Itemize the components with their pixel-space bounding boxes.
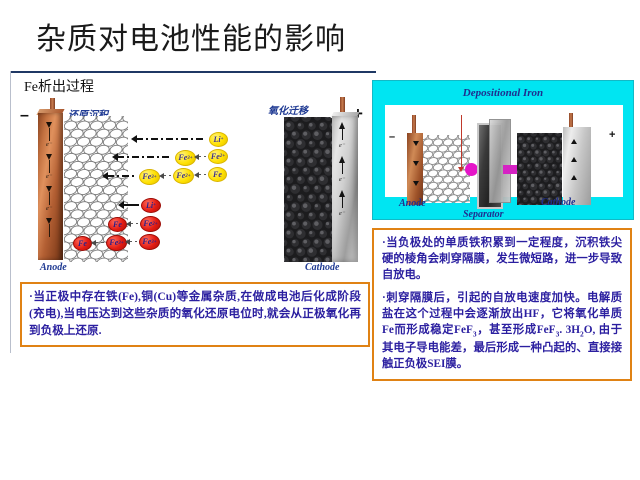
depositional-iron-panel: Depositional Iron – + xyxy=(372,80,634,220)
ion-fe-red-b: Fe xyxy=(73,236,92,251)
cyan-anode-arrow-1 xyxy=(413,141,419,146)
ion-fe3-yellow-a: Fe3+ xyxy=(175,150,196,166)
cyan-panel-stage: – + xyxy=(385,105,623,197)
cyan-cathode-arrow-1 xyxy=(571,139,577,144)
cyan-cathode-arrow-2 xyxy=(571,157,577,162)
anode-electron-3: e⁻ xyxy=(46,205,52,212)
anode-electron-2: e⁻ xyxy=(46,173,52,180)
diagram-title: Fe析出过程 xyxy=(24,76,94,96)
cyan-panel-title: Depositional Iron xyxy=(373,87,633,99)
cyan-polarity-minus: – xyxy=(389,131,395,143)
ion-fe-yellow: Fe xyxy=(208,167,227,182)
arrow-li-red xyxy=(123,204,139,206)
arrow-red-fe3-b xyxy=(129,241,137,242)
cathode-electron-2: e⁻ xyxy=(339,176,345,183)
anode-electron-1: e⁻ xyxy=(46,141,52,148)
arrow-fe3-migration-b xyxy=(107,175,135,177)
diagram-anode-label: Anode xyxy=(40,262,67,273)
anode-line-4 xyxy=(49,224,50,237)
arrow-red-fe2 xyxy=(130,223,138,224)
ion-fe3-red-a: Fe3+ xyxy=(106,235,127,251)
title-divider xyxy=(10,71,376,73)
cyan-pointer-line xyxy=(461,115,462,169)
ion-fe3-yellow-b: Fe3+ xyxy=(139,169,160,185)
cathode-collector-body xyxy=(332,116,358,262)
cathode-electron-1: e⁻ xyxy=(339,142,345,149)
diagram-cathode-label: Cathode xyxy=(305,262,339,273)
ion-fe3-red-b: Fe3+ xyxy=(139,234,160,250)
callout-right: ·当负极处的单质铁积累到一定程度，沉积铁尖硬的棱角会刺穿隔膜，发生微短路，进一步… xyxy=(372,228,632,381)
cyan-cathode-arrow-3 xyxy=(571,175,577,180)
arrow-fe2-to-fe3-a xyxy=(198,156,206,157)
cyan-anode-arrow-2 xyxy=(413,161,419,166)
cyan-separator-label: Separator xyxy=(463,209,504,220)
label-oxidation-migration: 氧化迁移 xyxy=(268,102,308,117)
cyan-cathode xyxy=(563,127,591,205)
cyan-pointer-arrowhead xyxy=(458,167,464,172)
ion-fe-red: Fe xyxy=(108,217,127,232)
ion-fe2-yellow-b: Fe2+ xyxy=(173,168,194,184)
ion-fe2-red-a: Fe2+ xyxy=(140,216,161,232)
callout-left: ·当正极中存在铁(Fe),铜(Cu)等金属杂质,在做成电池后化成阶段(充电),当… xyxy=(20,282,370,347)
cyan-polarity-plus: + xyxy=(609,129,615,141)
anode-line-1 xyxy=(49,128,50,141)
anode-line-3 xyxy=(49,192,50,205)
anode-line-2 xyxy=(49,160,50,173)
cathode-line-2 xyxy=(342,162,343,174)
ion-li-plus-red: Li+ xyxy=(141,198,161,213)
fe-deposition-diagram: Fe析出过程 – + 还原沉积 氧化迁移 e⁻ e⁻ e⁻ Li xyxy=(12,76,376,276)
anode-polarity-minus: – xyxy=(20,107,29,125)
cyan-anode-tab xyxy=(412,115,416,134)
left-vertical-divider xyxy=(10,71,11,353)
cathode-line-1 xyxy=(342,128,343,140)
arrow-fe3-migration-a xyxy=(117,156,171,158)
callout-left-paragraph-1: ·当正极中存在铁(Fe),铜(Cu)等金属杂质,在做成电池后化成阶段(充电),当… xyxy=(29,289,361,339)
callout-right-paragraph-2-text: ·刺穿隔膜后，引起的自放电速度加快。电解质盐在这个过程中会逐渐放出HF，它将氧化… xyxy=(382,292,622,370)
cyan-anode-label: Anode xyxy=(399,198,426,209)
cathode-particle-bed xyxy=(284,117,334,262)
ion-li-plus-yellow: Li+ xyxy=(209,132,228,147)
cyan-separator-back xyxy=(489,119,511,203)
page-title: 杂质对电池性能的影响 xyxy=(36,14,346,58)
arrow-red-fe3-a xyxy=(95,242,104,243)
callout-right-paragraph-2: ·刺穿隔膜后，引起的自放电速度加快。电解质盐在这个过程中会逐渐放出HF，它将氧化… xyxy=(382,290,622,372)
arrow-fe-to-fe2 xyxy=(198,174,206,175)
cyan-anode-arrow-3 xyxy=(413,181,419,186)
callout-right-paragraph-1: ·当负极处的单质铁积累到一定程度，沉积铁尖硬的棱角会刺穿隔膜，发生微短路，进一步… xyxy=(382,235,622,283)
cyan-cathode-bed xyxy=(517,133,562,205)
cyan-cathode-label: Cathode xyxy=(541,197,575,208)
arrow-fe2-to-fe3-b xyxy=(163,175,171,176)
ion-fe2-yellow-a: Fe2+ xyxy=(208,149,228,164)
cathode-electron-3: e⁻ xyxy=(339,210,345,217)
slide-root: 杂质对电池性能的影响 Fe析出过程 – + 还原沉积 氧化迁移 e⁻ e⁻ e⁻ xyxy=(0,0,640,480)
arrow-li-migration xyxy=(136,138,204,140)
cathode-line-3 xyxy=(342,196,343,208)
